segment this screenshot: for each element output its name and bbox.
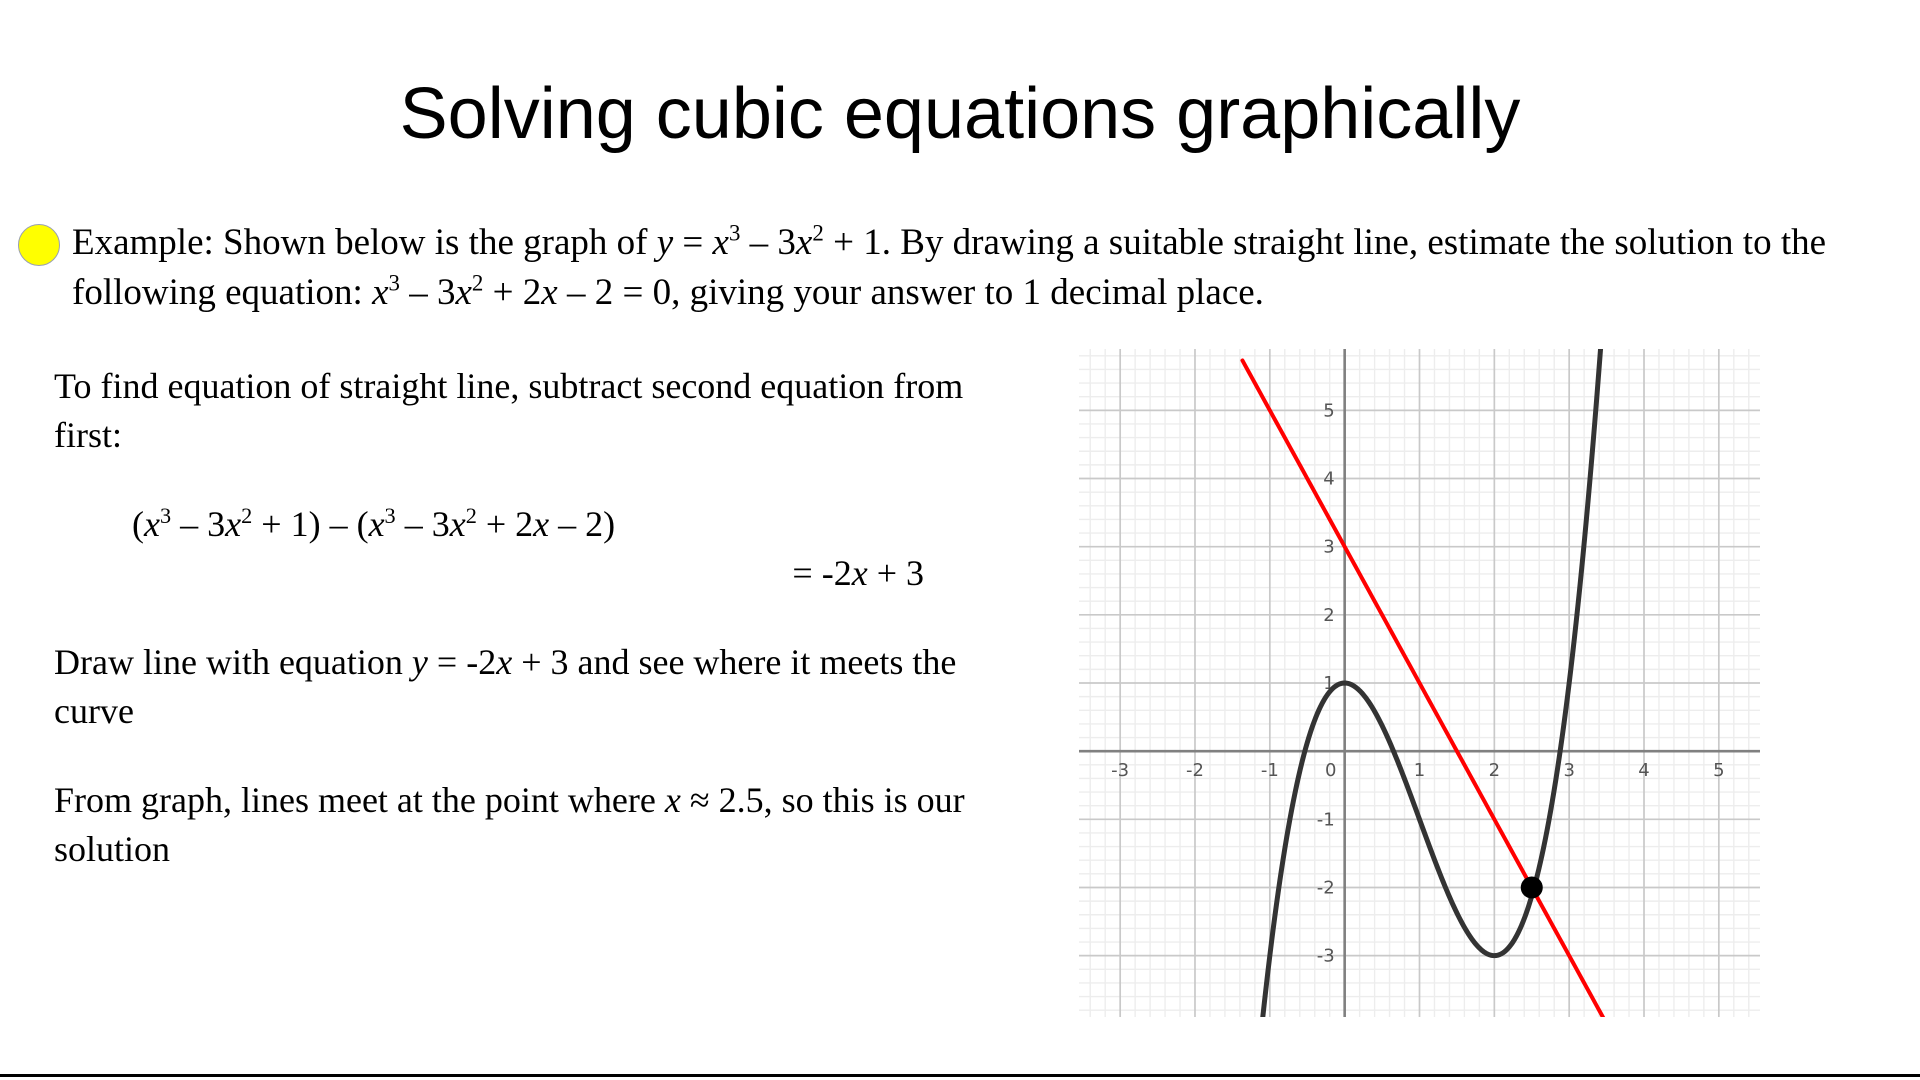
body-paragraph-1: To find equation of straight line, subtr… — [54, 362, 1034, 460]
y-tick-label: -1 — [1317, 809, 1335, 830]
body-column: To find equation of straight line, subtr… — [54, 362, 1034, 914]
y-tick-label: -2 — [1317, 877, 1335, 898]
page-title: Solving cubic equations graphically — [0, 72, 1920, 156]
straight-line — [1242, 360, 1617, 1017]
eq2-seg-1: = -2 — [792, 553, 851, 593]
eq1-sup-2: 2 — [241, 503, 252, 528]
eq1-seg-3: + 1) – ( — [252, 504, 368, 544]
bullet-sup-2: 2 — [812, 221, 823, 246]
cubic-graph: -3-2-1012345 -3-2-112345 — [1079, 349, 1760, 1017]
graph-svg: -3-2-1012345 -3-2-112345 — [1079, 349, 1760, 1017]
p3-var-x: x — [665, 780, 681, 820]
x-tick-label: 0 — [1325, 760, 1336, 781]
bullet-var-x1: x — [713, 222, 729, 263]
bullet-circle-icon — [18, 224, 60, 266]
p2-seg-2: = -2 — [428, 642, 496, 682]
equation-line-2: = -2x + 3 — [132, 549, 1034, 598]
derivation-equation: (x3 – 3x2 + 1) – (x3 – 3x2 + 2x – 2) = -… — [54, 500, 1034, 598]
bullet-seg-2: – 3 — [740, 222, 796, 263]
eq1-var-x4: x — [450, 504, 466, 544]
eq1-var-x3: x — [369, 504, 385, 544]
bullet-text: Example: Shown below is the graph of y =… — [72, 218, 1912, 318]
x-tick-label: 2 — [1489, 760, 1500, 781]
eq1-var-x2: x — [225, 504, 241, 544]
eq2-seg-2: + 3 — [868, 553, 924, 593]
bullet-var-x5: x — [541, 272, 557, 313]
eq1-sup-3: 3 — [385, 503, 396, 528]
equation-line-1: (x3 – 3x2 + 1) – (x3 – 3x2 + 2x – 2) — [132, 500, 1034, 549]
eq1-seg-1: ( — [132, 504, 144, 544]
bullet-var-y: y — [657, 222, 673, 263]
body-paragraph-3: From graph, lines meet at the point wher… — [54, 776, 1034, 874]
y-tick-label: 3 — [1323, 537, 1334, 558]
eq1-sup-4: 2 — [466, 503, 477, 528]
eq1-seg-4: – 3 — [396, 504, 450, 544]
bullet-var-x2: x — [796, 222, 812, 263]
bullet-var-x4: x — [455, 272, 471, 313]
bullet-seg-6: – 2 = 0, giving your answer to 1 decimal… — [558, 272, 1264, 313]
eq1-sup-1: 3 — [160, 503, 171, 528]
bullet-seg-1: Example: Shown below is the graph of — [72, 222, 657, 263]
bullet-seg-4: – 3 — [400, 272, 456, 313]
bullet-sup-4: 2 — [472, 271, 483, 296]
bullet-sup-1: 3 — [729, 221, 740, 246]
x-tick-label: 1 — [1414, 760, 1425, 781]
p2-var-y: y — [412, 642, 428, 682]
slide-bottom-rule — [0, 1074, 1920, 1077]
bullet-seg-eq: = — [673, 222, 712, 263]
eq1-seg-2: – 3 — [171, 504, 225, 544]
y-tick-label: 4 — [1323, 469, 1334, 490]
x-tick-label: 5 — [1713, 760, 1724, 781]
x-tick-label: -3 — [1111, 760, 1129, 781]
y-tick-label: -3 — [1317, 946, 1335, 967]
x-tick-label: 3 — [1563, 760, 1574, 781]
eq1-seg-6: – 2) — [549, 504, 615, 544]
eq1-var-x1: x — [144, 504, 160, 544]
eq1-seg-5: + 2 — [477, 504, 533, 544]
y-tick-label: 5 — [1323, 400, 1334, 421]
bullet-var-x3: x — [372, 272, 388, 313]
body-paragraph-2: Draw line with equation y = -2x + 3 and … — [54, 638, 1034, 736]
eq2-var-x: x — [852, 553, 868, 593]
bullet-seg-5: + 2 — [483, 272, 541, 313]
y-tick-label: 2 — [1323, 605, 1334, 626]
slide-canvas: Solving cubic equations graphically Exam… — [0, 0, 1920, 1080]
x-tick-label: -2 — [1186, 760, 1204, 781]
p3-seg-1: From graph, lines meet at the point wher… — [54, 780, 665, 820]
eq1-var-x5: x — [533, 504, 549, 544]
p2-var-x: x — [496, 642, 512, 682]
intersection-point-marker — [1521, 876, 1543, 898]
bullet-sup-3: 3 — [389, 271, 400, 296]
x-tick-label: -1 — [1261, 760, 1279, 781]
p2-seg-1: Draw line with equation — [54, 642, 412, 682]
x-tick-label: 4 — [1638, 760, 1649, 781]
